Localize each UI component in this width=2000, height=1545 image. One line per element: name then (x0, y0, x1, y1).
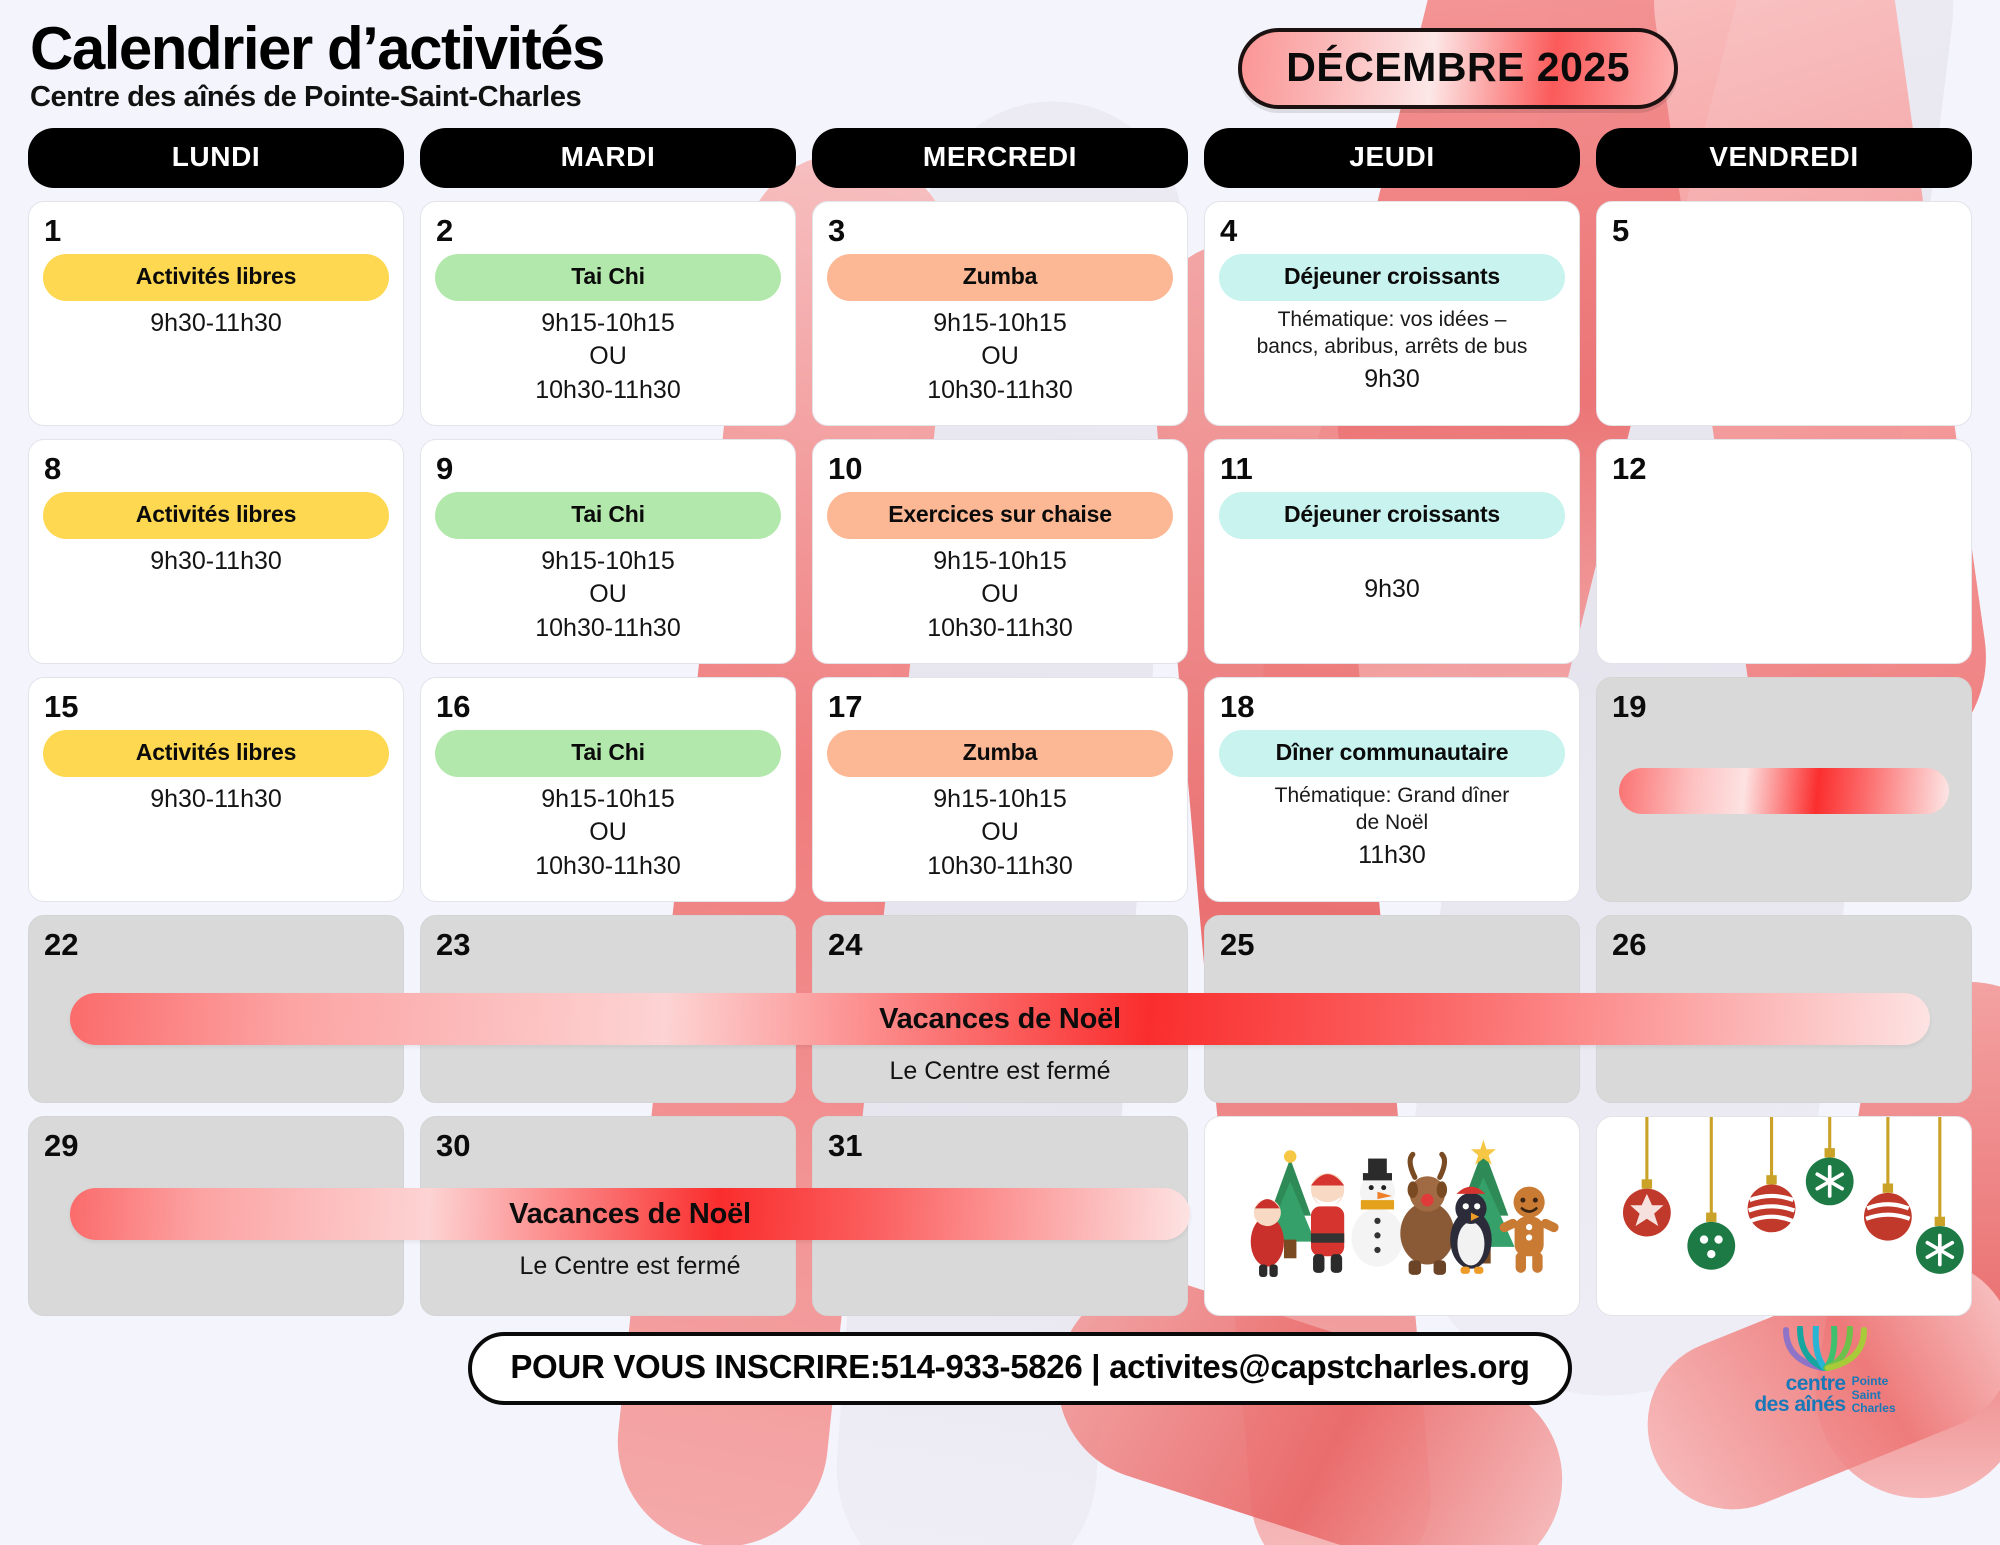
spacer (1217, 545, 1567, 571)
calendar-week-1: 1 Activités libres 9h30-11h30 2 Tai Chi … (22, 201, 1978, 426)
activity-pill: Zumba (827, 254, 1173, 301)
page-header: Calendrier d’activités Centre des aînés … (22, 0, 1978, 114)
holiday-banner-label: Vacances de Noël (509, 1198, 751, 1231)
day-number: 18 (1217, 686, 1567, 726)
calendar-week-5: 29 30 31 (22, 1116, 1978, 1315)
calendar-page: Calendrier d’activités Centre des aînés … (0, 0, 2000, 1545)
page-title: Calendrier d’activités (30, 18, 604, 79)
activity-times: 9h15-10h15OU10h30-11h30 (433, 545, 783, 645)
day-number: 2 (433, 210, 783, 250)
activity-note: Thématique: Grand dînerde Noël (1217, 783, 1567, 837)
day-number: 10 (825, 448, 1175, 488)
weekday-header-vendredi: VENDREDI (1596, 128, 1972, 188)
activity-pill: Dîner communautaire (1219, 730, 1565, 777)
activity-pill: Déjeuner croissants (1219, 492, 1565, 539)
activity-pill: Activités libres (43, 492, 389, 539)
activity-times: 9h30 (1217, 573, 1567, 606)
day-number: 8 (41, 448, 391, 488)
activity-times: 9h15-10h15OU10h30-11h30 (825, 783, 1175, 883)
activity-pill: Activités libres (43, 730, 389, 777)
activity-times: 9h15-10h15OU10h30-11h30 (433, 783, 783, 883)
day-number: 11 (1217, 448, 1567, 488)
month-badge: DÉCEMBRE 2025 (1238, 28, 1678, 109)
day-cell-18[interactable]: 18 Dîner communautaire Thématique: Grand… (1204, 677, 1580, 902)
weekday-header-mardi: MARDI (420, 128, 796, 188)
day-number: 12 (1609, 448, 1959, 488)
logo-side-2: Saint (1852, 1389, 1896, 1402)
christmas-ornaments-icon (1597, 1117, 1971, 1314)
day-number: 23 (433, 924, 783, 964)
day-number: 19 (1609, 686, 1959, 726)
day-number: 26 (1609, 924, 1959, 964)
activity-times: 9h15-10h15OU10h30-11h30 (433, 307, 783, 407)
day-cell-11[interactable]: 11 Déjeuner croissants 9h30 (1204, 439, 1580, 664)
holiday-banner-sub-week4: Le Centre est fermé (22, 1057, 1978, 1086)
holiday-banner-sub-week5: Le Centre est fermé (70, 1252, 1190, 1281)
page-subtitle: Centre des aînés de Pointe-Saint-Charles (30, 81, 604, 114)
activity-pill: Tai Chi (435, 254, 781, 301)
day-cell-17[interactable]: 17 Zumba 9h15-10h15OU10h30-11h30 (812, 677, 1188, 902)
day-cell-4[interactable]: 4 Déjeuner croissants Thématique: vos id… (1204, 201, 1580, 426)
day-number: 15 (41, 686, 391, 726)
holiday-banner-label: Vacances de Noël (879, 1003, 1121, 1036)
logo-line-1: centre (1786, 1372, 1846, 1395)
day-number: 24 (825, 924, 1175, 964)
logo-main-text: centre des aînés (1754, 1373, 1845, 1416)
holiday-banner-week5: Vacances de Noël (70, 1188, 1190, 1240)
holiday-banner-week4: Vacances de Noël (70, 993, 1930, 1045)
holiday-marker-pill (1619, 768, 1949, 814)
day-number: 29 (41, 1125, 391, 1165)
day-cell-9[interactable]: 9 Tai Chi 9h15-10h15OU10h30-11h30 (420, 439, 796, 664)
day-number: 5 (1609, 210, 1959, 250)
calendar-week-3: 15 Activités libres 9h30-11h30 16 Tai Ch… (22, 677, 1978, 902)
activity-pill: Activités libres (43, 254, 389, 301)
day-number: 4 (1217, 210, 1567, 250)
activity-times: 9h30-11h30 (41, 307, 391, 340)
activity-note: Thématique: vos idées –bancs, abribus, a… (1217, 307, 1567, 361)
activity-pill: Tai Chi (435, 730, 781, 777)
day-cell-1[interactable]: 1 Activités libres 9h30-11h30 (28, 201, 404, 426)
activity-times: 9h30-11h30 (41, 545, 391, 578)
day-number: 1 (41, 210, 391, 250)
day-cell-15[interactable]: 15 Activités libres 9h30-11h30 (28, 677, 404, 902)
logo-arc-icon (1770, 1326, 1880, 1372)
day-number: 30 (433, 1125, 783, 1165)
christmas-characters-icon (1205, 1117, 1579, 1314)
activity-times: 9h15-10h15OU10h30-11h30 (825, 307, 1175, 407)
activity-times: 9h30 (1217, 363, 1567, 396)
activity-pill: Exercices sur chaise (827, 492, 1173, 539)
day-number: 17 (825, 686, 1175, 726)
logo-side-3: Charles (1852, 1402, 1896, 1415)
day-cell-19[interactable]: 19 (1596, 677, 1972, 902)
logo-wordmark: centre des aînés Pointe Saint Charles (1730, 1373, 1920, 1416)
day-cell-3[interactable]: 3 Zumba 9h15-10h15OU10h30-11h30 (812, 201, 1188, 426)
day-number: 3 (825, 210, 1175, 250)
activity-times: 11h30 (1217, 839, 1567, 872)
calendar-week-4: 22 23 24 25 26 Vacances de Noël Le Centr… (22, 915, 1978, 1103)
christmas-ornaments-image-cell (1596, 1116, 1972, 1315)
day-number: 22 (41, 924, 391, 964)
day-cell-10[interactable]: 10 Exercices sur chaise 9h15-10h15OU10h3… (812, 439, 1188, 664)
activity-times: 9h15-10h15OU10h30-11h30 (825, 545, 1175, 645)
logo-side-text: Pointe Saint Charles (1852, 1375, 1896, 1415)
day-number: 16 (433, 686, 783, 726)
weekday-header-jeudi: JEUDI (1204, 128, 1580, 188)
day-number: 25 (1217, 924, 1567, 964)
day-cell-16[interactable]: 16 Tai Chi 9h15-10h15OU10h30-11h30 (420, 677, 796, 902)
activity-pill: Déjeuner croissants (1219, 254, 1565, 301)
weekday-header-row: LUNDI MARDI MERCREDI JEUDI VENDREDI (22, 128, 1978, 188)
day-cell-8[interactable]: 8 Activités libres 9h30-11h30 (28, 439, 404, 664)
page-footer: POUR VOUS INSCRIRE:514-933-5826 | activi… (22, 1332, 1978, 1405)
day-cell-2[interactable]: 2 Tai Chi 9h15-10h15OU10h30-11h30 (420, 201, 796, 426)
logo-line-2: des aînés (1754, 1393, 1845, 1416)
day-cell-5[interactable]: 5 (1596, 201, 1972, 426)
logo-side-1: Pointe (1852, 1375, 1896, 1388)
activity-pill: Zumba (827, 730, 1173, 777)
activity-times: 9h30-11h30 (41, 783, 391, 816)
calendar-week-2: 8 Activités libres 9h30-11h30 9 Tai Chi … (22, 439, 1978, 664)
organization-logo: centre des aînés Pointe Saint Charles (1730, 1326, 1920, 1416)
day-number: 31 (825, 1125, 1175, 1165)
title-block: Calendrier d’activités Centre des aînés … (30, 12, 604, 114)
day-cell-12[interactable]: 12 (1596, 439, 1972, 664)
weekday-header-lundi: LUNDI (28, 128, 404, 188)
month-badge-label: DÉCEMBRE 2025 (1286, 44, 1630, 91)
weekday-header-mercredi: MERCREDI (812, 128, 1188, 188)
day-number: 9 (433, 448, 783, 488)
christmas-characters-image-cell (1204, 1116, 1580, 1315)
contact-info[interactable]: POUR VOUS INSCRIRE:514-933-5826 | activi… (468, 1332, 1571, 1405)
activity-pill: Tai Chi (435, 492, 781, 539)
